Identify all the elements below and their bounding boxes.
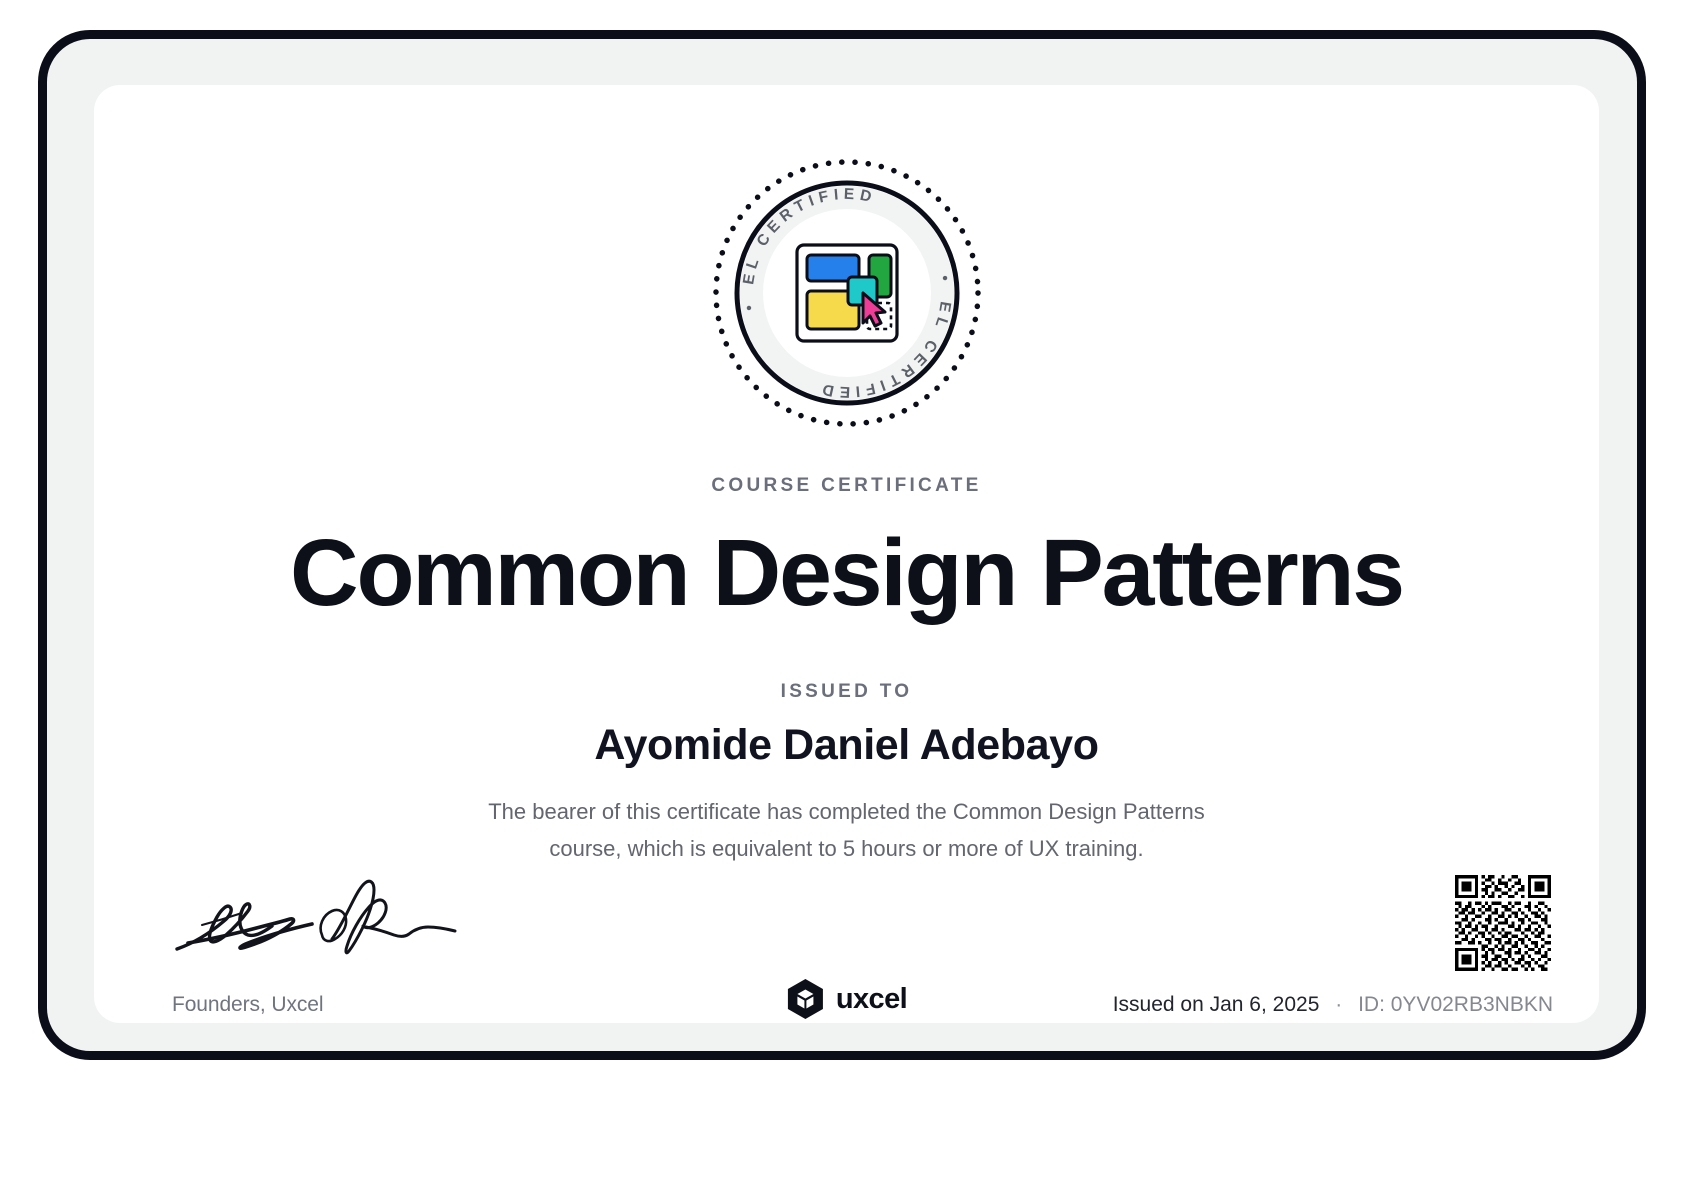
uxcel-wordmark: uxcel [836, 983, 907, 1016]
founder-signature-one [177, 904, 312, 949]
uxcel-brand-logo: uxcel [786, 979, 907, 1019]
certificate-id: ID: 0YV02RB3NBKN [1358, 993, 1553, 1016]
certificate-frame: UXCEL CERTIFIED UXCEL CERTIFIED • • [38, 30, 1646, 1060]
svg-text:•: • [740, 299, 758, 312]
issue-info: Issued on Jan 6, 2025 · ID: 0YV02RB3NBKN [1113, 993, 1553, 1017]
certificate-card: UXCEL CERTIFIED UXCEL CERTIFIED • • [94, 85, 1599, 1023]
founders-label: Founders, Uxcel [172, 993, 323, 1017]
founder-signature-two [321, 881, 455, 953]
recipient-name: Ayomide Daniel Adebayo [94, 719, 1599, 771]
certificate-description: The bearer of this certificate has compl… [457, 793, 1237, 867]
uxcel-certified-seal: UXCEL CERTIFIED UXCEL CERTIFIED • • [711, 157, 983, 429]
page-title: Common Design Patterns [94, 519, 1599, 627]
page-kicker: COURSE CERTIFICATE [94, 475, 1599, 497]
issue-info-separator: · [1325, 993, 1352, 1016]
svg-text:•: • [935, 274, 953, 287]
design-patterns-layout-icon [797, 245, 897, 341]
certificate-verification-qr-code[interactable] [1455, 875, 1551, 971]
issued-on-date: Issued on Jan 6, 2025 [1113, 993, 1320, 1016]
issued-to-label: ISSUED TO [94, 681, 1599, 703]
uxcel-hexagon-cube-logo [786, 979, 824, 1019]
founder-signatures [172, 877, 462, 967]
